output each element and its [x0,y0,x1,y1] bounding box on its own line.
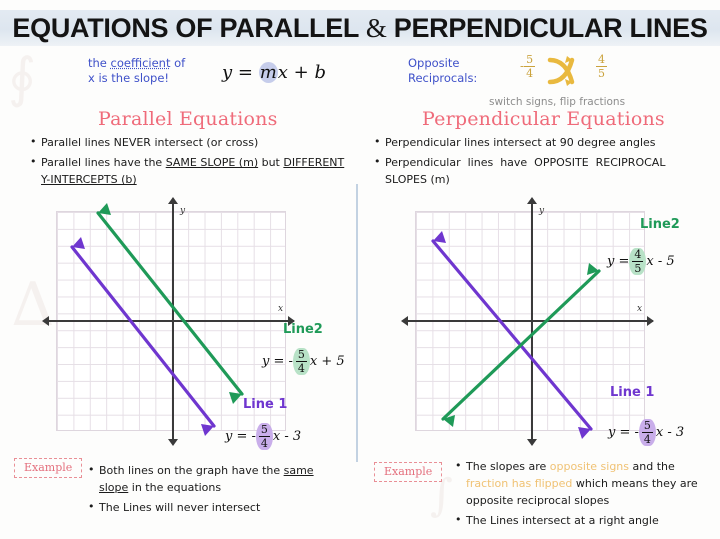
reciprocal-label-line1: Opposite [408,56,459,70]
formula-rest: x + b [278,62,326,83]
right-line2-eq-rhs: x - 5 [646,254,674,269]
slope-note-line1-post: of [170,56,185,70]
reciprocal-right-fraction: 4 5 [596,54,607,79]
right-bullet-2: Perpendicular lines have OPPOSITE RECIPR… [385,156,669,186]
switch-signs-note: switch signs, flip fractions [489,96,625,108]
right-example-badge: Example [374,462,442,482]
left-example-bullet-2: The Lines will never intersect [99,501,260,514]
left-line2-label: Line2 [283,322,323,337]
reciprocal-right-numerator: 4 [596,54,607,65]
panel-divider [356,184,358,462]
left-line1-denominator: 4 [259,438,270,449]
left-line1-numerator: 5 [259,424,270,435]
right-line2-equation: y = 4 5 x - 5 [607,248,675,275]
left-line1-eq-lhs: y = - [225,429,256,444]
right-bullet-list: Perpendicular lines intersect at 90 degr… [374,134,714,191]
list-item: The Lines intersect at a right angle [455,512,710,529]
page-title: EQUATIONS OF PARALLEL & PERPENDICULAR LI… [0,11,720,45]
reciprocal-label-line2: Reciprocals: [408,71,477,85]
reciprocal-right-denominator: 5 [596,68,607,79]
right-line1-eq-lhs: y = - [608,425,639,440]
opposite-reciprocals-label: Opposite Reciprocals: [408,56,477,86]
slope-intercept-formula: y = mx + b [222,62,326,83]
right-line1-numerator: 5 [642,420,653,431]
left-line1-equation: y = - 5 4 x - 3 [225,423,301,450]
left-line2-equation: y = - 5 4 x + 5 [262,348,345,375]
infographic-page: ∮ ∆ △ ∫ EQUATIONS OF PARALLEL & PERPENDI… [0,0,720,539]
line2-series [98,203,242,404]
background-doodle: ∮ [8,46,36,109]
coefficient-word: coefficient [111,56,171,70]
left-example-bullet-1: Both lines on the graph have the same sl… [99,464,314,494]
list-item: The Lines will never intersect [88,499,338,516]
slope-note-line2: x is the slope! [88,71,169,85]
list-item: Parallel lines have the SAME SLOPE (m) b… [30,154,350,188]
right-line2-eq-lhs: y = [607,254,629,269]
right-line1-label: Line 1 [610,385,654,400]
reciprocal-swap-diagram: - 5 4 4 5 [520,52,650,94]
right-line2-label: Line2 [640,217,680,232]
page-title-part2: PERPENDICULAR LINES [387,13,708,43]
right-example-list: The slopes are opposite signs and the fr… [455,458,710,532]
reciprocal-left-fraction: - 5 4 [520,54,535,79]
right-bullet-1: Perpendicular lines intersect at 90 degr… [385,136,656,149]
left-line2-eq-rhs: x + 5 [310,354,345,369]
slope-note-line1-pre: the [88,56,111,70]
right-line2-numerator: 4 [632,249,643,260]
left-example-badge: Example [14,458,82,478]
reciprocal-left-numerator: 5 [524,54,535,65]
right-example-bullet-2: The Lines intersect at a right angle [466,514,659,527]
graph-lines [401,197,659,445]
right-section-heading: Perpendicular Equations [422,108,665,130]
left-line1-eq-rhs: x - 3 [273,429,301,444]
line1-series [72,237,214,436]
right-line1-denominator: 4 [642,434,653,445]
left-line2-denominator: 4 [296,363,307,374]
list-item: Both lines on the graph have the same sl… [88,462,338,496]
left-bullet-list: Parallel lines NEVER intersect (or cross… [30,134,350,191]
right-line1-eq-rhs: x - 3 [656,425,684,440]
reciprocal-left-denominator: 4 [524,68,535,79]
left-bullet-2: Parallel lines have the SAME SLOPE (m) b… [41,156,344,186]
page-title-part1: EQUATIONS OF PARALLEL [12,13,365,43]
left-section-heading: Parallel Equations [98,108,278,130]
left-line2-eq-lhs: y = - [262,354,293,369]
right-example-bullet-1: The slopes are opposite signs and the fr… [466,460,698,507]
right-line1-equation: y = - 5 4 x - 3 [608,419,684,446]
left-bullet-1: Parallel lines NEVER intersect (or cross… [41,136,258,149]
left-line1-label: Line 1 [243,397,287,412]
right-line2-denominator: 5 [632,263,643,274]
formula-lhs: y = [222,62,253,83]
left-example-list: Both lines on the graph have the same sl… [88,462,338,519]
page-title-ampersand: & [366,13,387,43]
line2-series [443,263,599,427]
list-item: Perpendicular lines have OPPOSITE RECIPR… [374,154,714,188]
swap-arrows-icon [546,52,590,90]
left-line2-numerator: 5 [296,349,307,360]
list-item: Parallel lines NEVER intersect (or cross… [30,134,350,151]
formula-m-highlight: m [259,62,278,83]
list-item: Perpendicular lines intersect at 90 degr… [374,134,714,151]
list-item: The slopes are opposite signs and the fr… [455,458,710,509]
slope-note: the coefficient of x is the slope! [88,56,218,86]
